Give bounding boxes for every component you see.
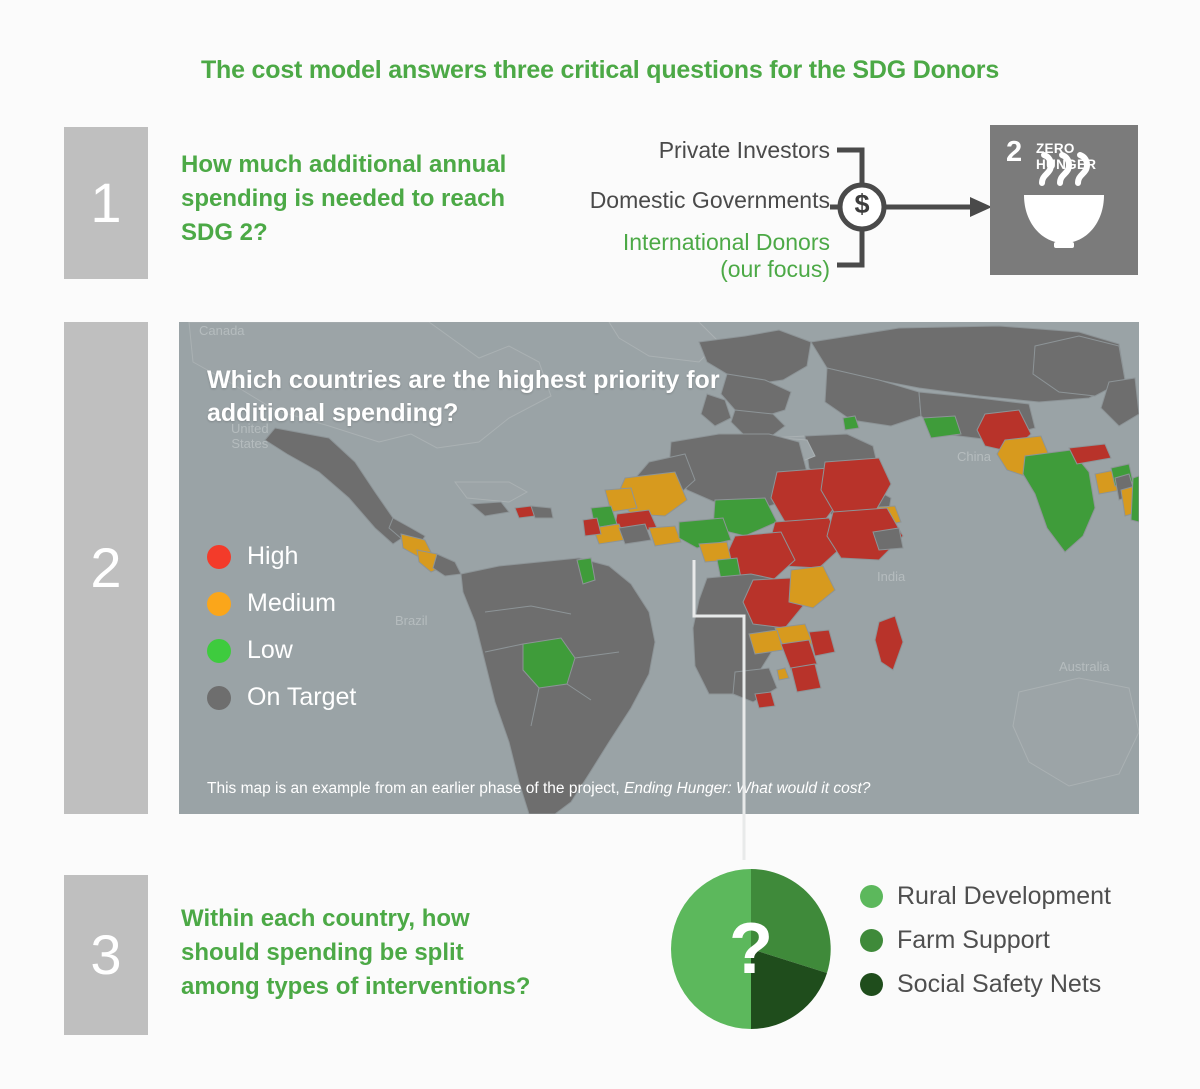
dollar-symbol: $	[850, 191, 874, 218]
legend-item-high[interactable]: High	[207, 544, 356, 569]
steaming-bowl-icon	[990, 125, 1138, 275]
pie-center-question-mark: ?	[670, 868, 832, 1030]
section-number-2: 2	[64, 322, 148, 814]
pie-legend-dot-farm-support-icon	[860, 929, 883, 952]
section-number-1: 1	[64, 127, 148, 279]
flow-source-international-donors-label: International Donors	[623, 229, 830, 255]
legend-label-high: High	[247, 544, 298, 569]
flow-source-our-focus-label: (our focus)	[720, 256, 830, 282]
sdg-goal-2-tile: 2 ZERO HUNGER	[990, 125, 1138, 275]
legend-item-medium[interactable]: Medium	[207, 591, 356, 616]
section-3-question: Within each country, how should spending…	[181, 902, 541, 1004]
legend-item-on-target[interactable]: On Target	[207, 685, 356, 710]
flow-source-domestic-governments: Domestic Governments	[590, 187, 830, 214]
legend-label-on-target: On Target	[247, 685, 356, 710]
flow-source-international-donors: International Donors (our focus)	[623, 229, 830, 283]
legend-dot-high-icon	[207, 545, 231, 569]
pie-legend: Rural Development Farm Support Social Sa…	[860, 884, 1111, 1016]
legend-label-low: Low	[247, 638, 293, 663]
section-1-question: How much additional annual spending is n…	[181, 148, 531, 250]
legend-item-low[interactable]: Low	[207, 638, 356, 663]
right-arrow-icon	[970, 197, 992, 217]
pie-legend-label-rural-development: Rural Development	[897, 884, 1111, 909]
section-number-3: 3	[64, 875, 148, 1035]
map-question-heading: Which countries are the highest priority…	[207, 364, 807, 429]
pie-legend-label-farm-support: Farm Support	[897, 928, 1050, 953]
map-caption: This map is an example from an earlier p…	[207, 780, 1107, 798]
map-legend: High Medium Low On Target	[207, 544, 356, 732]
legend-dot-medium-icon	[207, 592, 231, 616]
pie-legend-item-social-safety-nets[interactable]: Social Safety Nets	[860, 972, 1111, 997]
legend-dot-on-target-icon	[207, 686, 231, 710]
map-caption-plain: This map is an example from an earlier p…	[207, 780, 624, 797]
flow-source-private-investors: Private Investors	[659, 137, 830, 164]
pie-legend-dot-social-safety-nets-icon	[860, 973, 883, 996]
pie-legend-label-social-safety-nets: Social Safety Nets	[897, 972, 1101, 997]
page-title: The cost model answers three critical qu…	[0, 56, 1200, 85]
map-to-pie-connector-line	[680, 560, 800, 880]
funding-flow-diagram: $ Private Investors Domestic Governments…	[540, 125, 1160, 290]
legend-dot-low-icon	[207, 639, 231, 663]
pie-legend-item-rural-development[interactable]: Rural Development	[860, 884, 1111, 909]
pie-legend-dot-rural-development-icon	[860, 885, 883, 908]
priority-world-map[interactable]: .land { fill:#6e6e6e; stroke:#8d9497; st…	[179, 322, 1139, 814]
legend-label-medium: Medium	[247, 591, 336, 616]
pie-legend-item-farm-support[interactable]: Farm Support	[860, 928, 1111, 953]
